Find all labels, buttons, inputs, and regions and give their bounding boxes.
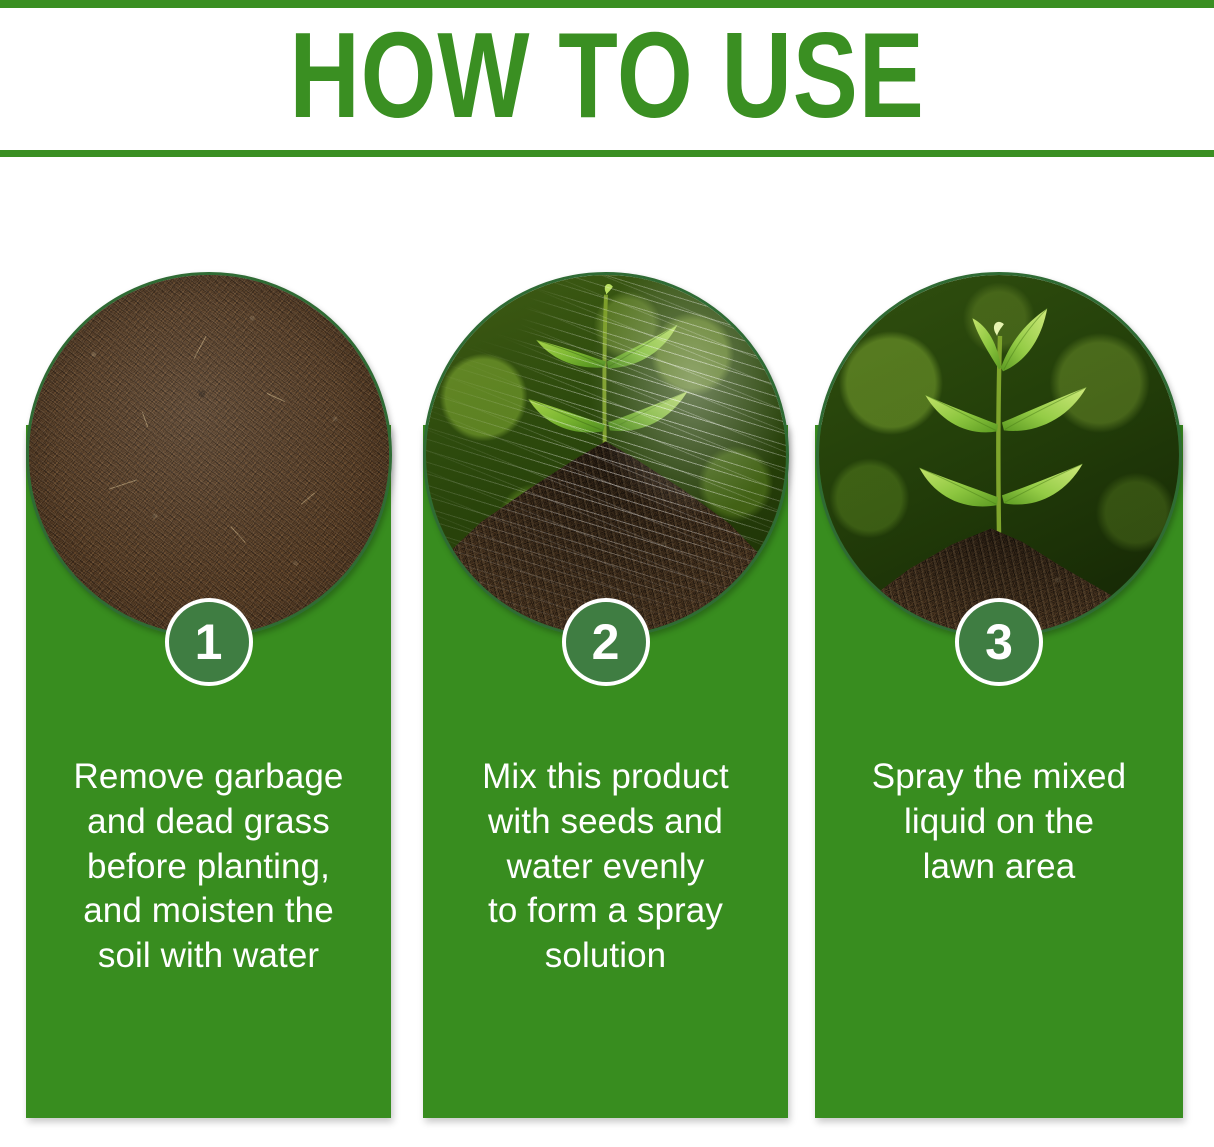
step-card-2: 2 Mix this product with seeds and water … xyxy=(423,425,788,1118)
step-number-1: 1 xyxy=(165,598,253,686)
soil-closeup-photo xyxy=(26,272,392,638)
water-spray-streaks xyxy=(426,275,786,635)
step-card-1: 1 Remove garbage and dead grass before p… xyxy=(26,425,391,1118)
step-caption-1: Remove garbage and dead grass before pla… xyxy=(40,755,377,979)
step-number-3: 3 xyxy=(955,598,1043,686)
step-caption-3: Spray the mixed liquid on the lawn area xyxy=(829,755,1169,889)
seedling-watering-photo xyxy=(423,272,789,638)
page-title: HOW TO USE xyxy=(121,8,1092,142)
step-number-2: 2 xyxy=(562,598,650,686)
step-number-3-label: 3 xyxy=(985,617,1013,667)
step-number-2-label: 2 xyxy=(592,617,620,667)
step-caption-2: Mix this product with seeds and water ev… xyxy=(437,755,774,979)
step-number-1-label: 1 xyxy=(195,617,223,667)
soil-texture xyxy=(29,275,389,635)
bottom-green-rule xyxy=(0,150,1214,157)
seedling-growing-photo xyxy=(816,272,1182,638)
step-card-3: 3 Spray the mixed liquid on the lawn are… xyxy=(815,425,1183,1118)
